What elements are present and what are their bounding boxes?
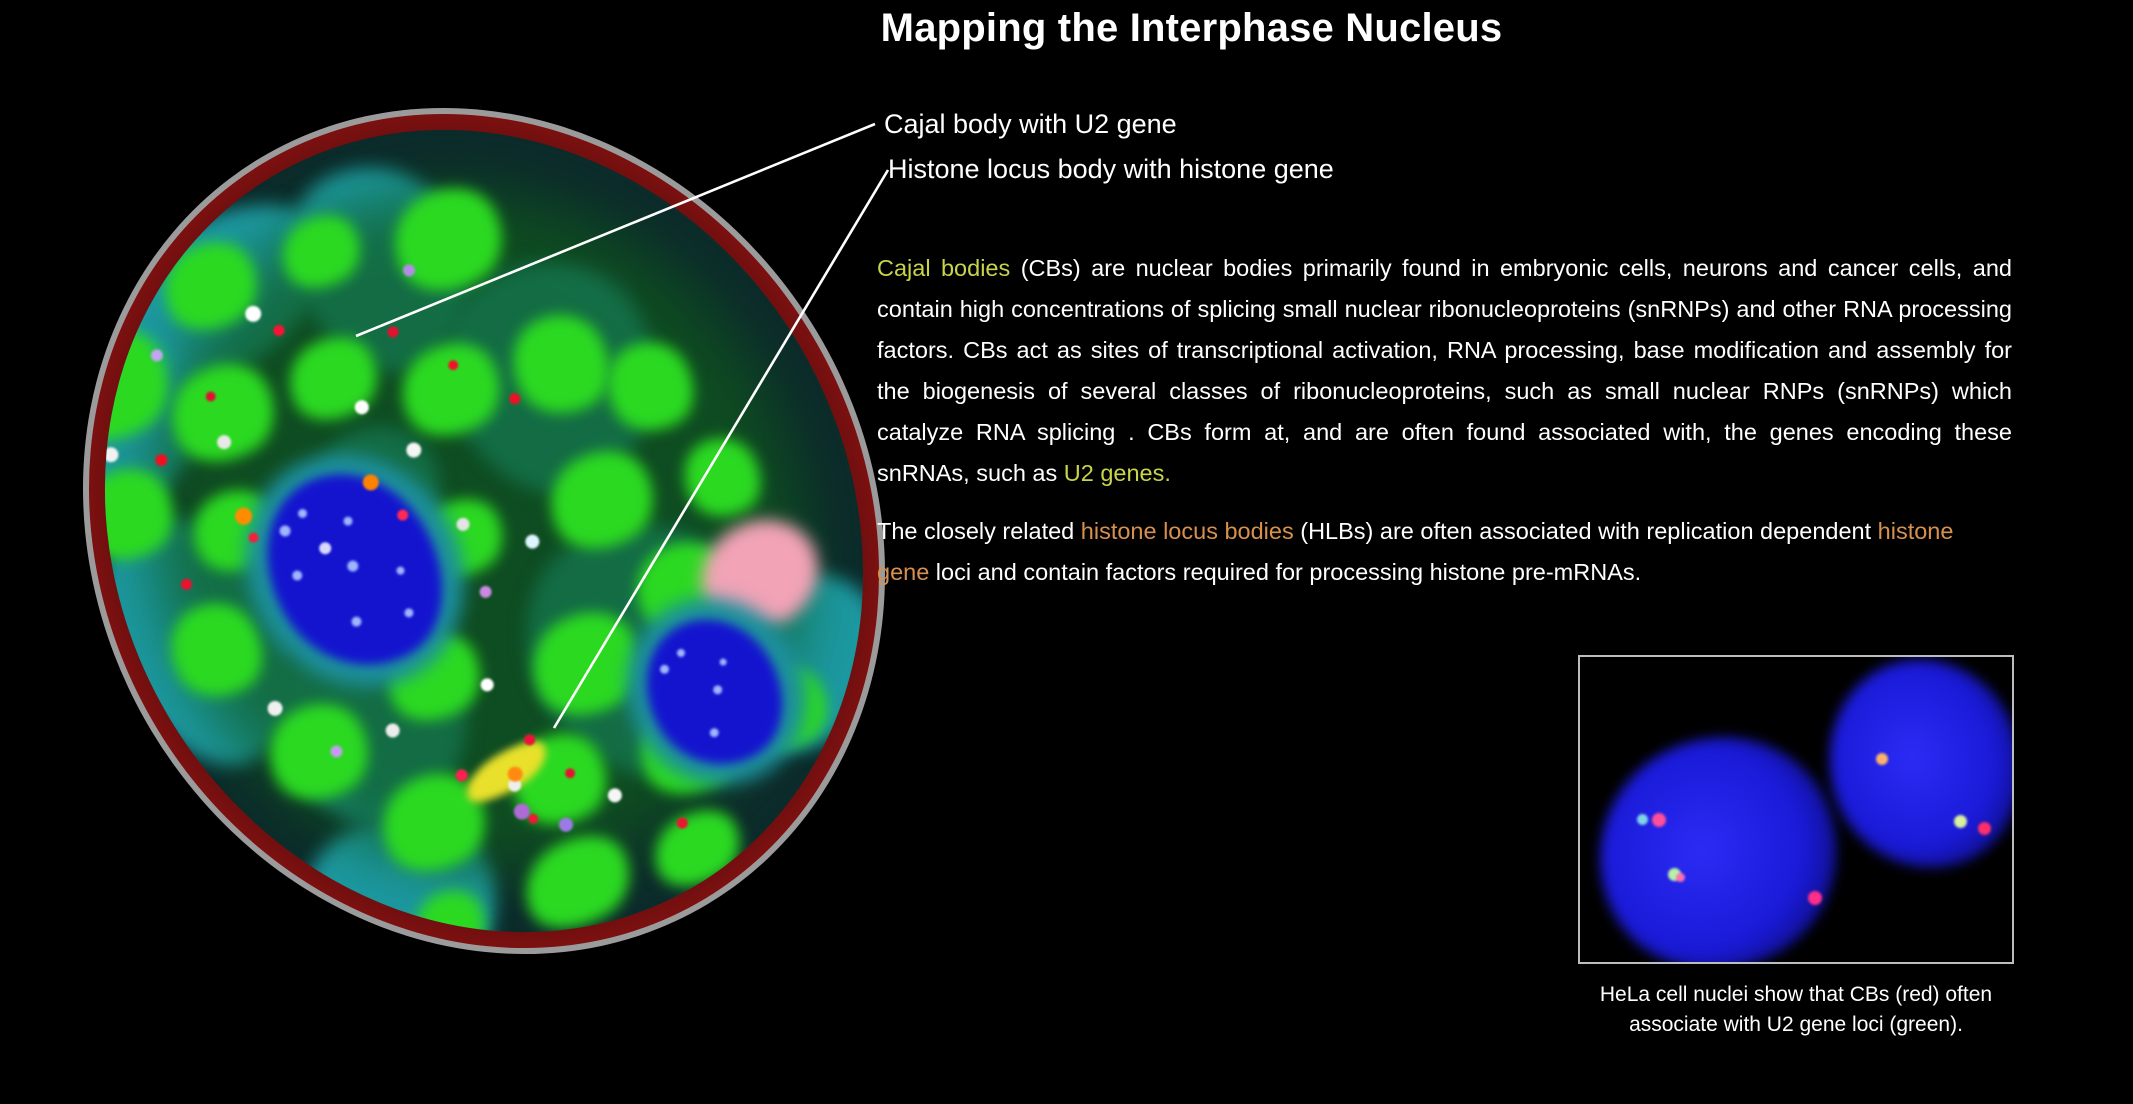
inset-caption-line2: associate with U2 gene loci (green).: [1556, 1010, 2036, 1040]
paragraph-cajal-bodies: Cajal bodies (CBs) are nuclear bodies pr…: [877, 248, 2012, 494]
callout-cajal-body: Cajal body with U2 gene: [884, 109, 1177, 140]
u2-gene-focus: [1876, 753, 1888, 765]
paragraph1-text: (CBs) are nuclear bodies primarily found…: [877, 255, 2012, 486]
cb-focus: [1652, 813, 1666, 827]
u2-gene-focus: [1637, 814, 1648, 825]
description-text: Cajal bodies (CBs) are nuclear bodies pr…: [877, 248, 2012, 610]
term-histone-locus-bodies: histone locus bodies: [1081, 518, 1294, 544]
cb-focus: [1676, 873, 1685, 882]
nucleoplasm: [0, 0, 1010, 1074]
paragraph-histone-locus-bodies: The closely related histone locus bodies…: [877, 511, 2012, 593]
inset-caption-line1: HeLa cell nuclei show that CBs (red) oft…: [1556, 980, 2036, 1010]
inset-caption: HeLa cell nuclei show that CBs (red) oft…: [1556, 980, 2036, 1040]
interphase-nucleus-micrograph: [96, 96, 872, 966]
paragraph2-mid: (HLBs) are often associated with replica…: [1294, 518, 1878, 544]
cb-focus: [1808, 891, 1822, 905]
callout-histone-locus-body: Histone locus body with histone gene: [888, 154, 1334, 185]
hela-inset: [1578, 655, 2014, 964]
cb-focus: [1978, 822, 1991, 835]
hela-inset-frame: [1578, 655, 2014, 964]
paragraph2-lead: The closely related: [877, 518, 1081, 544]
term-u2-genes: U2 genes.: [1064, 460, 1171, 486]
paragraph2-tail: loci and contain factors required for pr…: [929, 559, 1641, 585]
term-cajal-bodies: Cajal bodies: [877, 255, 1010, 281]
u2-gene-focus: [1954, 815, 1967, 828]
page-title: Mapping the Interphase Nucleus: [0, 6, 2133, 51]
